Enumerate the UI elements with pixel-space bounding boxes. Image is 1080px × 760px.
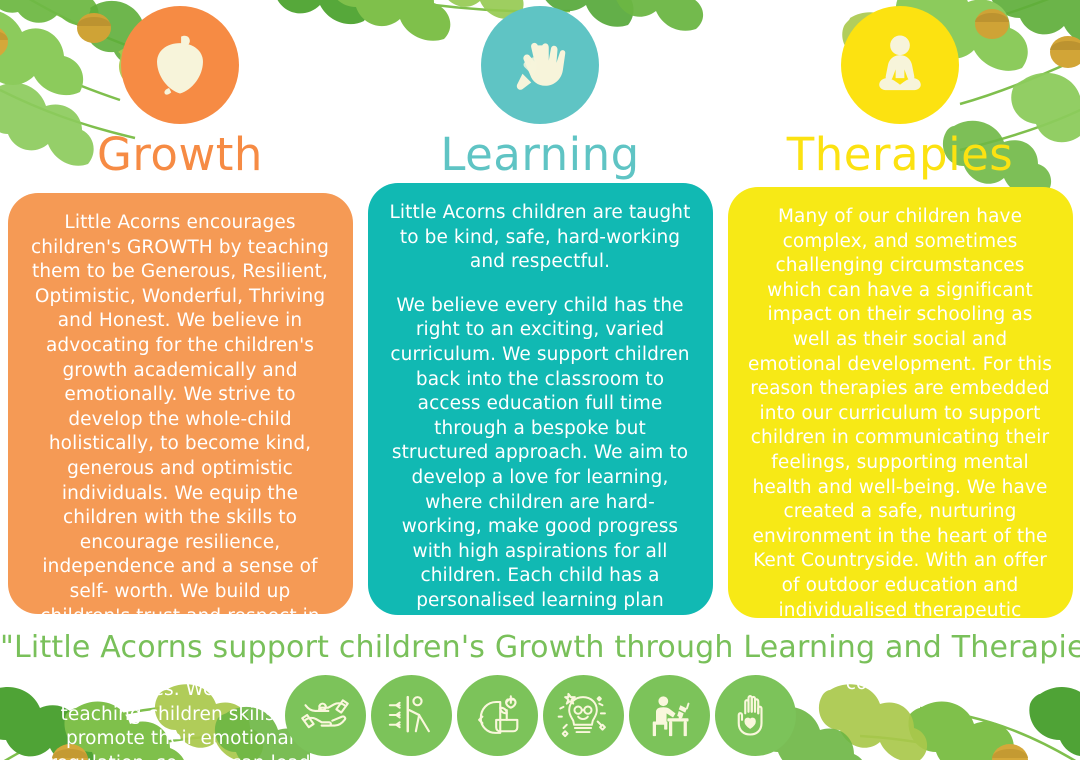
column-learning: Learning Little Acorns children are taug… [360, 0, 720, 620]
column-growth: Growth Little Acorns encourages children… [0, 0, 360, 620]
icon-circle-child-at-desk [629, 675, 710, 756]
learning-card: Little Acorns children are taught to be … [368, 183, 713, 615]
learning-paragraph-1: Little Acorns children are taught to be … [388, 201, 693, 275]
therapies-card: Many of our children have complex, and s… [728, 187, 1073, 618]
helping-hands-icon [505, 30, 575, 100]
bottom-icon-row [0, 672, 1080, 758]
meditating-person-icon [865, 30, 935, 100]
giving-hands-icon [299, 689, 351, 741]
resilience-person-icon [385, 689, 437, 741]
child-at-desk-icon [643, 689, 695, 741]
therapies-paragraph-1: Many of our children have complex, and s… [748, 205, 1053, 697]
icon-circle-lightbulb-face [543, 675, 624, 756]
hand-heart-icon [729, 689, 781, 741]
acorn-icon [145, 30, 215, 100]
lightbulb-face-icon [557, 689, 609, 741]
icon-circle-hand-heart [715, 675, 796, 756]
head-growth-heart-icon [471, 689, 523, 741]
therapies-badge-wrap [841, 6, 959, 124]
therapies-badge [841, 6, 959, 124]
three-column-section: Growth Little Acorns encourages children… [0, 0, 1080, 620]
column-therapies: Therapies Many of our children have comp… [720, 0, 1080, 620]
growth-card: Little Acorns encourages children's GROW… [8, 193, 353, 614]
growth-badge-wrap [121, 6, 239, 124]
growth-title: Growth [97, 132, 263, 177]
learning-badge [481, 6, 599, 124]
therapies-title: Therapies [787, 132, 1013, 177]
tagline: "Little Acorns support children's Growth… [0, 630, 1080, 665]
poster-root: Growth Little Acorns encourages children… [0, 0, 1080, 760]
icon-circle-giving-hands [285, 675, 366, 756]
learning-title: Learning [440, 132, 639, 177]
icon-circle-head-growth-heart [457, 675, 538, 756]
learning-badge-wrap [481, 6, 599, 124]
growth-badge [121, 6, 239, 124]
icon-circle-resilience-person [371, 675, 452, 756]
learning-paragraph-2: We believe every child has the right to … [388, 294, 693, 663]
